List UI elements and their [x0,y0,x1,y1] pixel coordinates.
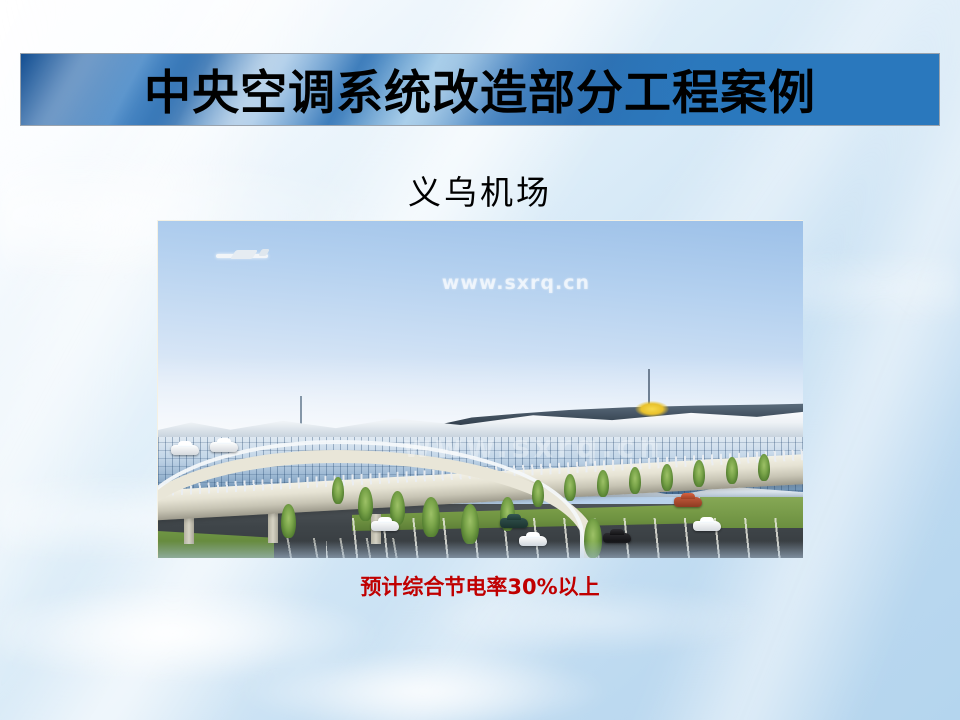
tree [281,504,296,538]
page-title: 中央空调系统改造部分工程案例 [21,54,939,125]
airplane-icon [216,250,268,261]
tree [461,504,479,544]
tree [661,464,673,491]
tree [726,457,738,484]
tree [332,477,344,504]
photo-bottom-haze [158,541,803,558]
tree [597,470,609,497]
car [171,445,199,455]
car [210,442,238,452]
airport-photo: www.sxrq.cn www.sxrq.cn [157,220,803,558]
car [693,521,721,531]
car [500,518,528,528]
tree [532,480,544,507]
tree [693,460,705,487]
photo-watermark-bottom: www.sxrq.cn [403,430,664,465]
slide-subtitle: 义乌机场 [0,166,960,214]
photo-watermark-top: www.sxrq.cn [442,272,590,294]
car [674,497,702,507]
car [371,521,399,531]
energy-saving-caption: 预计综合节电率30%以上 [0,571,960,601]
slide-canvas: 中央空调系统改造部分工程案例 义乌机场 www.sxrq.cn [0,0,960,720]
tree [358,487,373,521]
tree [629,467,641,494]
tree [758,454,770,481]
title-banner: 中央空调系统改造部分工程案例 [20,53,940,126]
